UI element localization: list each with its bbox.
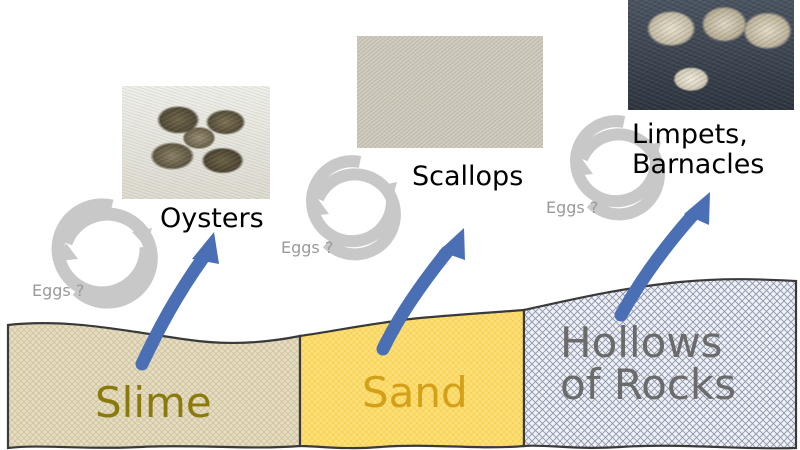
band-label-sand: Sand bbox=[362, 372, 468, 414]
eggs-label-1: Eggs ? bbox=[32, 281, 84, 300]
limpets-barnacles-photo bbox=[628, 0, 794, 110]
band-label-hollows-of-rocks: Hollows of Rocks bbox=[560, 322, 736, 406]
creature-label-scallops: Scallops bbox=[412, 161, 523, 192]
band-label-slime: Slime bbox=[95, 382, 212, 424]
creature-label-limpets-line1: Limpets, bbox=[632, 120, 764, 150]
oysters-photo-texture bbox=[122, 86, 270, 199]
creature-label-limpets-barnacles: Limpets, Barnacles bbox=[632, 120, 764, 180]
eggs-label-2: Eggs ? bbox=[281, 238, 333, 257]
scallops-photo bbox=[357, 36, 543, 148]
scallops-photo-texture bbox=[357, 36, 543, 148]
oysters-photo bbox=[122, 86, 270, 199]
eggs-label-3: Eggs ? bbox=[546, 198, 598, 217]
diagram-canvas: Slime Sand Hollows of Rocks Oysters Scal… bbox=[0, 0, 800, 450]
creature-label-limpets-line2: Barnacles bbox=[632, 150, 764, 180]
creature-label-oysters: Oysters bbox=[160, 203, 264, 234]
limpets-photo-texture bbox=[628, 0, 794, 110]
band-label-hollows-line2: of Rocks bbox=[560, 364, 736, 406]
